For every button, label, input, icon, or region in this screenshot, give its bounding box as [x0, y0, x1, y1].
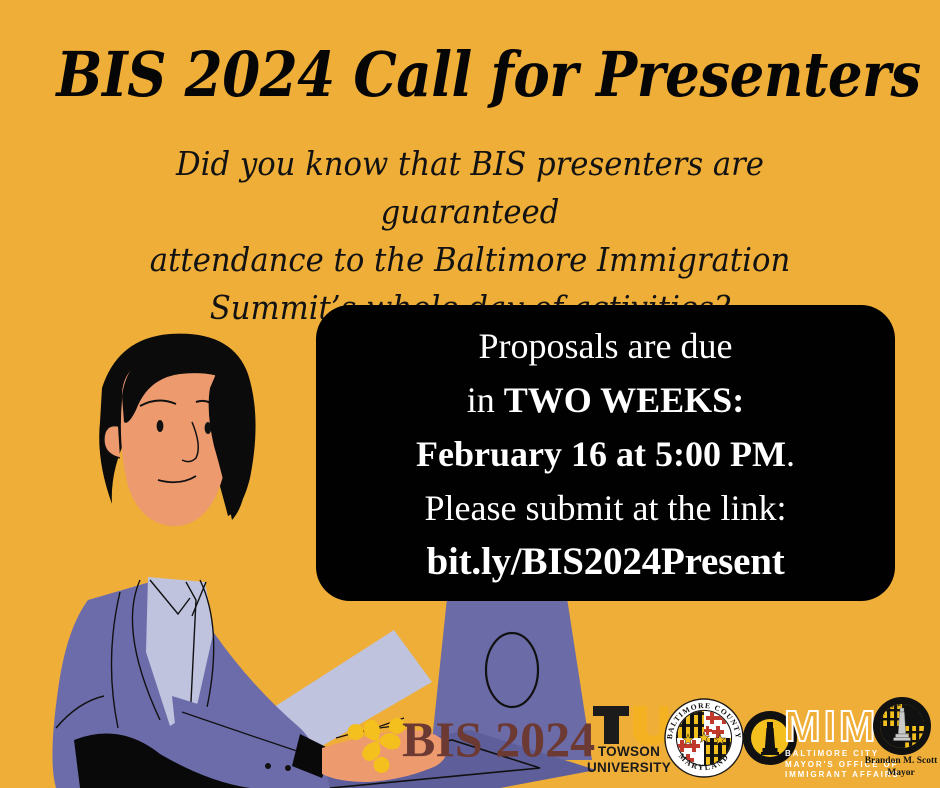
callout-line2-bold: TWO WEEKS: [504, 380, 744, 420]
mayor-full-name: Brandon M. Scott [862, 756, 940, 768]
callout-date-period: . [786, 434, 795, 474]
mayor-name-text: Brandon M. Scott Mayor [862, 756, 940, 779]
callout-line2-prefix: in [467, 380, 504, 420]
callout-line-submit: Please submit at the link: [340, 481, 871, 535]
poster-canvas: BIS 2024 Call for Presenters Did you kno… [0, 0, 940, 788]
towson-tu-monogram-icon [589, 704, 669, 744]
partner-logo-strip: BIS 2024 TOWSON UNIVERSITY [330, 694, 940, 788]
callout-line-proposals-due: Proposals are due [340, 319, 871, 373]
subtitle-line-2: attendance to the Baltimore Immigration [89, 236, 852, 284]
callout-submission-link[interactable]: bit.ly/BIS2024Present [340, 535, 871, 589]
subtitle-text: Did you know that BIS presenters are gua… [60, 140, 880, 332]
bis-2024-wordmark: BIS 2024 [402, 708, 595, 770]
callout-date-bold: February 16 at 5:00 PM [416, 434, 786, 474]
callout-line-date: February 16 at 5:00 PM. [340, 427, 871, 481]
city-of-baltimore-seal-icon: CITY OF BALTIMORE [872, 696, 932, 761]
baltimore-mayor-seal: CITY OF BALTIMORE Brandon M. Scott Mayor [862, 694, 940, 788]
page-title: BIS 2024 Call for Presenters [56, 40, 883, 110]
callout-line-two-weeks: in TWO WEEKS: [340, 373, 871, 427]
person-body [52, 577, 332, 788]
bis-2024-logo: BIS 2024 [330, 694, 590, 788]
baltimore-county-seal: BALTIMORE COUNTY MARYLAND [660, 694, 748, 788]
deadline-callout-box: Proposals are due in TWO WEEKS: February… [316, 305, 895, 601]
mayor-title: Mayor [862, 768, 940, 780]
subtitle-line-1: Did you know that BIS presenters are gua… [89, 140, 852, 236]
